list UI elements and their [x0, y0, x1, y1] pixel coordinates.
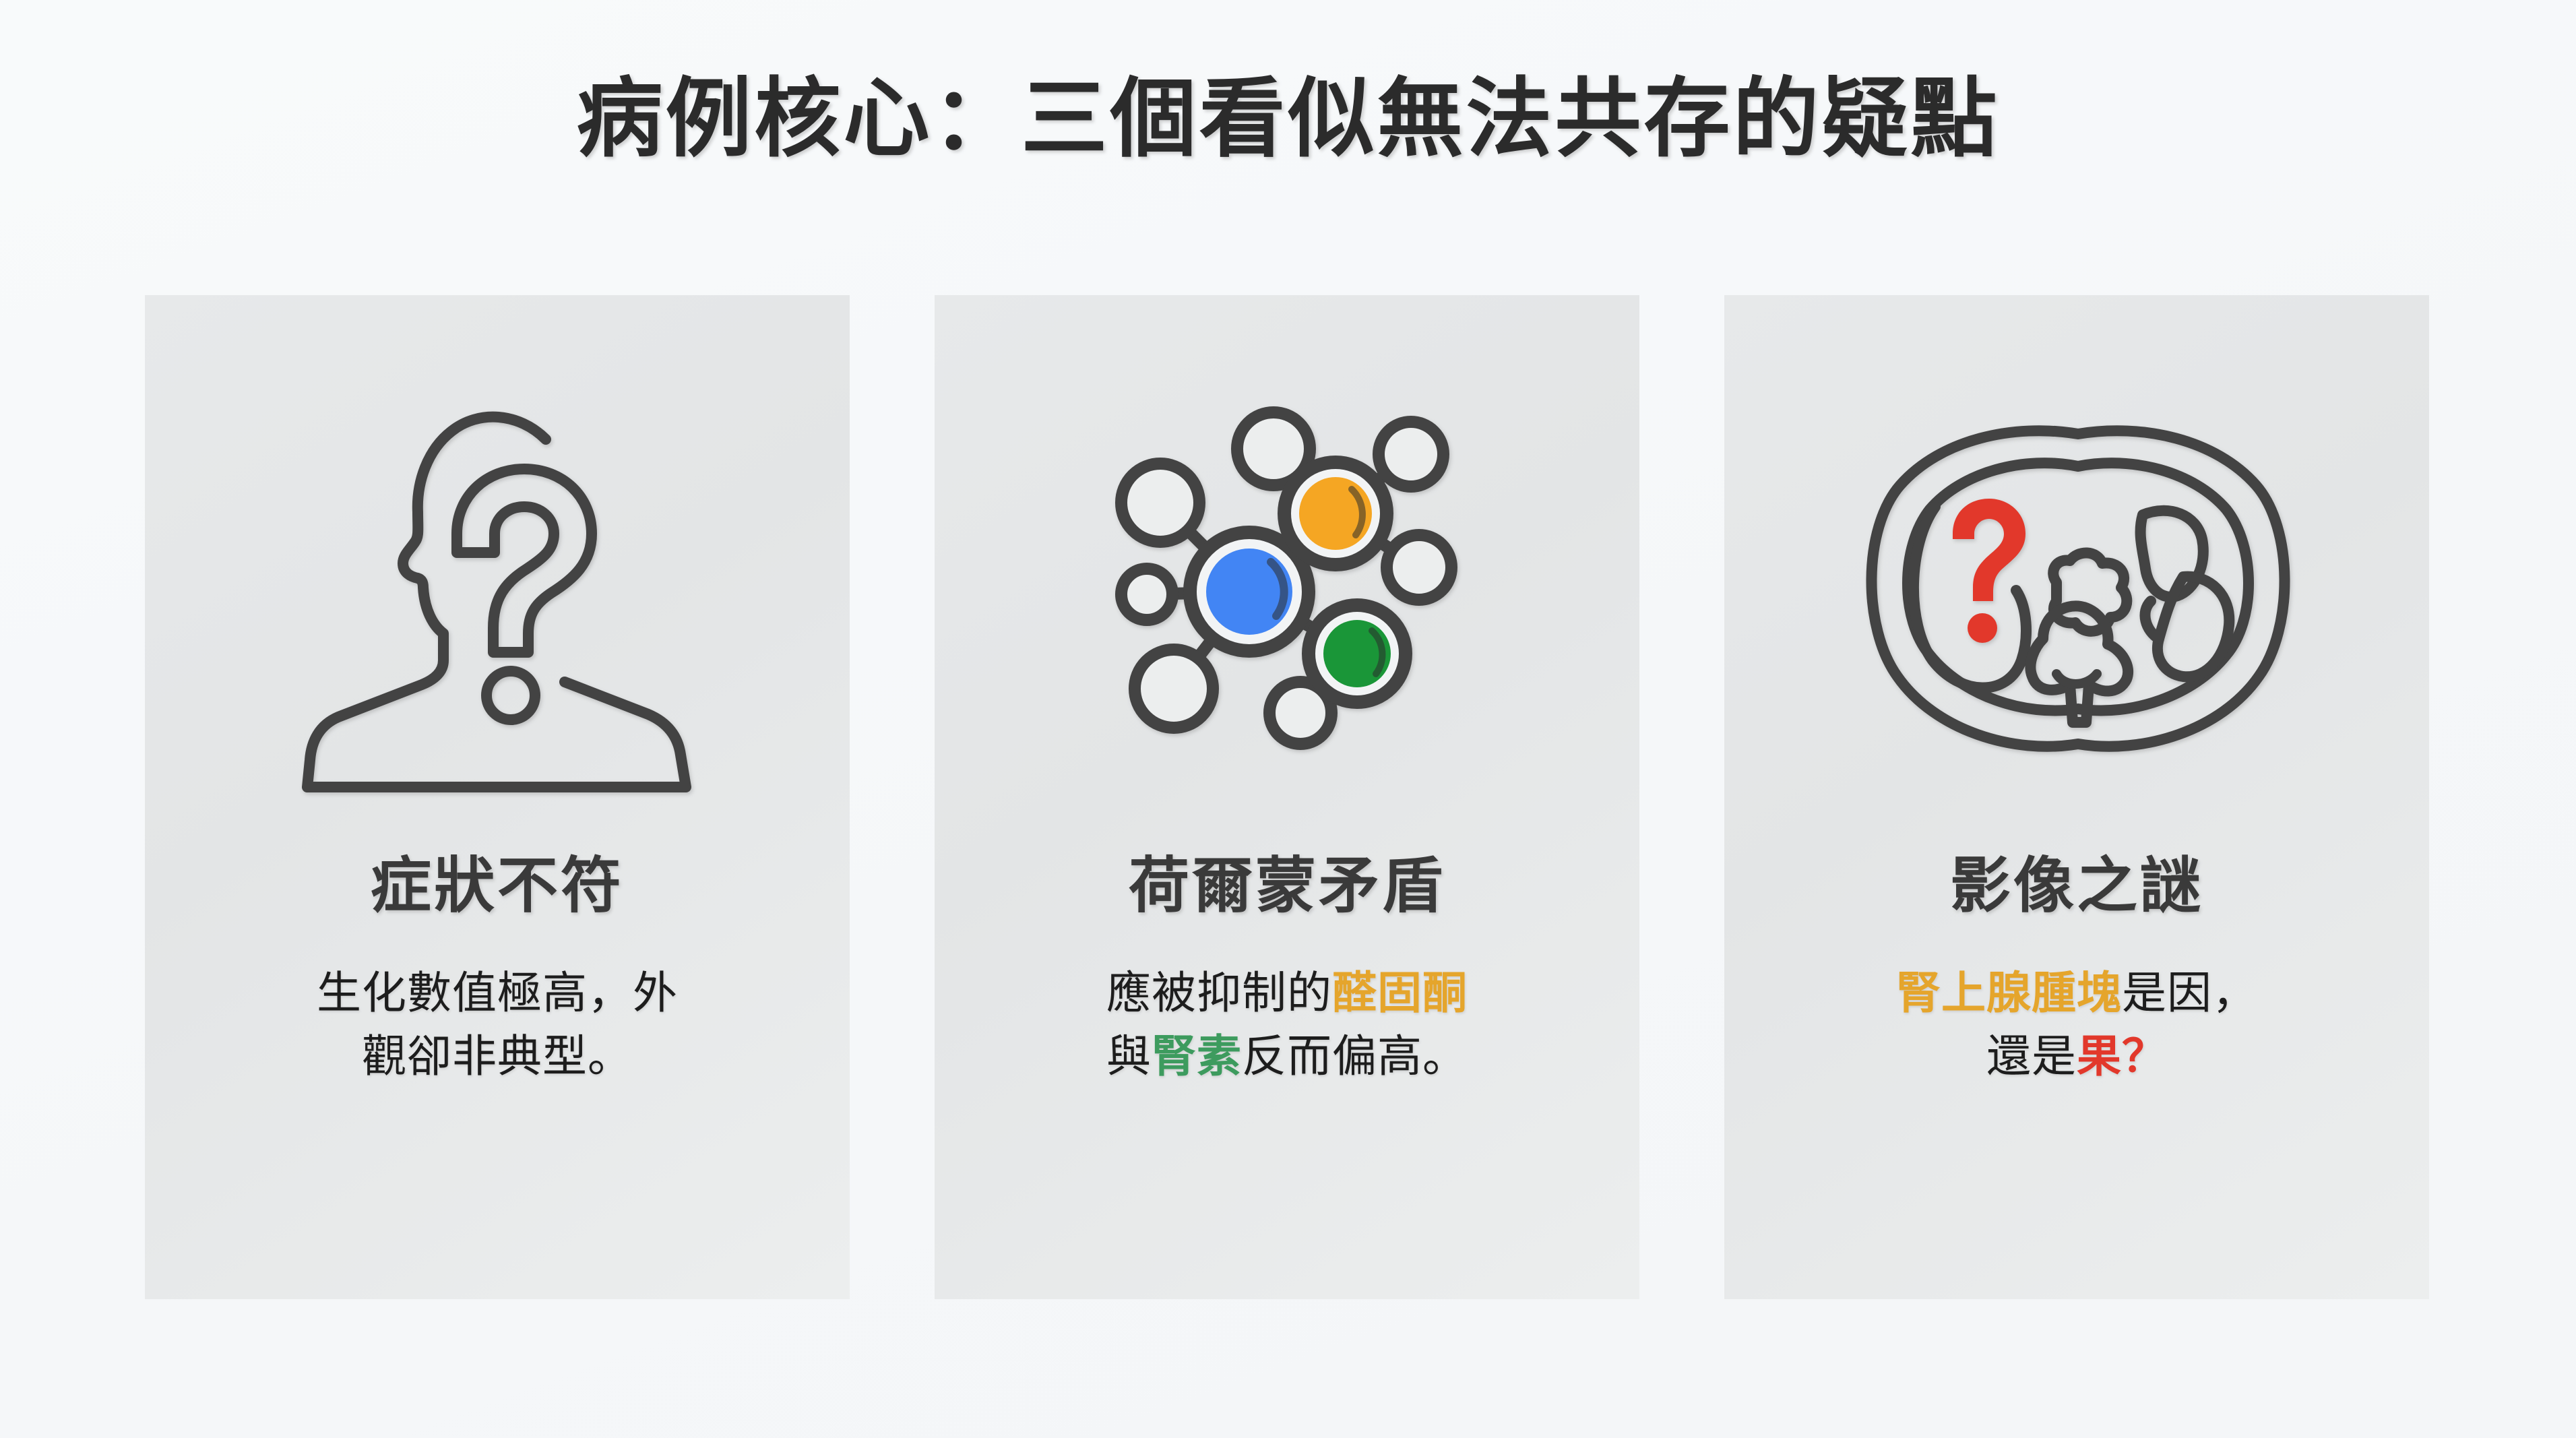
card-description: 生化數值極高，外 觀卻非典型。 — [218, 962, 777, 1088]
page-title: 病例核心：三個看似無法共存的疑點 — [0, 73, 2576, 166]
card-imaging-mystery[interactable]: 影像之謎 腎上腺腫塊是因， 還是果？ — [1724, 295, 2429, 1299]
card-description: 應被抑制的醛固酮 與腎素反而偏高。 — [1007, 962, 1567, 1088]
person-question-icon — [145, 342, 850, 841]
desc-line-1: 生化數值極高，外 — [317, 968, 678, 1018]
molecule-network-icon — [935, 342, 1639, 841]
desc-seg-aldosterone: 醛固酮 — [1332, 968, 1468, 1018]
desc-seg-plain-1: 應被抑制的 — [1106, 968, 1332, 1018]
card-title: 影像之謎 — [1950, 853, 2203, 920]
desc-seg-renin: 腎素 — [1152, 1031, 1242, 1081]
ct-scan-question-icon — [1724, 342, 2429, 841]
desc-seg-plain-2: 還是 — [1986, 1031, 2077, 1081]
desc-seg-effect: 果？ — [2077, 1031, 2167, 1081]
slide-root: 病例核心：三個看似無法共存的疑點 症狀不符 生化數值極高，外 — [0, 0, 2576, 1438]
card-title: 症狀不符 — [371, 853, 624, 920]
card-description: 腎上腺腫塊是因， 還是果？ — [1797, 962, 2356, 1088]
card-hormone-contradiction[interactable]: 荷爾蒙矛盾 應被抑制的醛固酮 與腎素反而偏高。 — [935, 295, 1639, 1299]
desc-seg-adrenal-mass: 腎上腺腫塊 — [1896, 968, 2122, 1018]
card-title: 荷爾蒙矛盾 — [1129, 853, 1445, 920]
desc-seg-plain-1: 是因， — [2122, 968, 2257, 1018]
card-row: 症狀不符 生化數值極高，外 觀卻非典型。 — [145, 295, 2429, 1299]
desc-seg-plain-2: 與 — [1106, 1031, 1152, 1081]
desc-line-2: 觀卻非典型。 — [362, 1031, 633, 1081]
desc-seg-plain-3: 反而偏高。 — [1242, 1031, 1468, 1081]
card-symptom-mismatch[interactable]: 症狀不符 生化數值極高，外 觀卻非典型。 — [145, 295, 850, 1299]
